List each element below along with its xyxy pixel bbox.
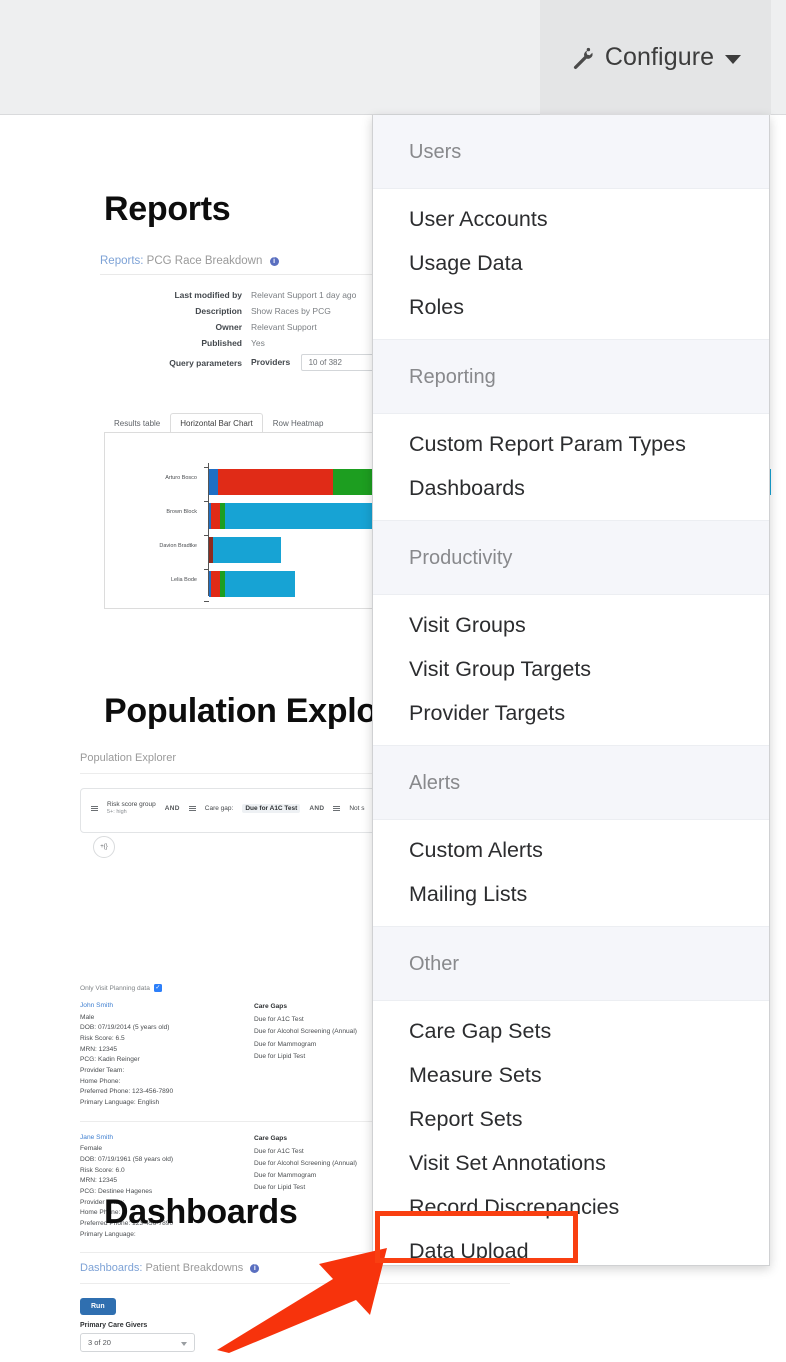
bar-segment <box>209 469 218 495</box>
menu-item-dashboards[interactable]: Dashboards <box>373 466 769 510</box>
query-param-name: Providers <box>251 357 290 367</box>
meta-key: Published <box>100 335 251 351</box>
breadcrumb-link[interactable]: Dashboards: <box>80 1262 142 1274</box>
table-row: Owner Relevant Support <box>100 319 410 335</box>
chevron-down-icon <box>181 1342 187 1346</box>
breadcrumb-title: PCG Race Breakdown <box>147 255 263 267</box>
bar-segment <box>225 503 390 529</box>
bar-track <box>209 503 390 529</box>
care-gap-item: Due for Mammogram <box>254 1170 357 1182</box>
filter-care-gap-value[interactable]: Due for A1C Test <box>242 804 300 813</box>
patient-detail: Female <box>80 1144 230 1155</box>
axis-tick <box>204 601 209 602</box>
only-visit-planning-toggle[interactable]: Only Visit Planning data ✓ <box>80 984 380 992</box>
patient-detail: Provider Team: <box>80 1066 230 1077</box>
table-row: Published Yes <box>100 335 410 351</box>
patient-detail: DOB: 07/19/1961 (58 years old) <box>80 1155 230 1166</box>
dashboards-card: Dashboards: Patient Breakdowns i Run Pri… <box>80 1262 510 1352</box>
filter-care-gap-label: Care gap: <box>205 805 234 812</box>
menu-section-header-users: Users <box>373 115 769 189</box>
patient-detail: Home Phone: <box>80 1077 230 1088</box>
top-bar: Configure <box>0 0 786 115</box>
patient-name[interactable]: Jane Smith <box>80 1133 230 1144</box>
meta-key: Owner <box>100 319 251 335</box>
care-gap-item: Due for Lipid Test <box>254 1051 357 1063</box>
primary-care-givers-select[interactable]: 3 of 20 <box>80 1333 195 1352</box>
menu-item-visit-groups[interactable]: Visit Groups <box>373 603 769 647</box>
menu-item-usage-data[interactable]: Usage Data <box>373 241 769 285</box>
care-gaps-title: Care Gaps <box>254 1001 357 1013</box>
list-item: John Smith Male DOB: 07/19/2014 (5 years… <box>80 1001 380 1122</box>
breadcrumb-title: Patient Breakdowns <box>145 1262 243 1274</box>
only-visit-planning-label: Only Visit Planning data <box>80 985 150 992</box>
care-gap-item: Due for A1C Test <box>254 1014 357 1026</box>
filter-sublabel: 5+: high <box>107 809 156 816</box>
menu-item-custom-report-param-types[interactable]: Custom Report Param Types <box>373 422 769 466</box>
bar-label: Lelia Bode <box>107 577 197 583</box>
reports-heading: Reports <box>104 190 230 229</box>
filter-risk-score-group[interactable]: Risk score group 5+: high <box>107 801 156 816</box>
meta-key: Last modified by <box>100 287 251 303</box>
primary-care-givers-value: 3 of 20 <box>88 1338 111 1347</box>
bar-label: Brown Block <box>107 509 197 515</box>
bar-label: Davion Bradtke <box>107 543 197 549</box>
menu-item-user-accounts[interactable]: User Accounts <box>373 197 769 241</box>
primary-care-givers-label: Primary Care Givers <box>80 1322 510 1329</box>
menu-item-measure-sets[interactable]: Measure Sets <box>373 1053 769 1097</box>
patient-detail: DOB: 07/19/2014 (5 years old) <box>80 1023 230 1034</box>
drag-handle-icon[interactable] <box>333 805 340 813</box>
care-gap-item: Due for Alcohol Screening (Annual) <box>254 1158 357 1170</box>
patient-detail: PCG: Kadin Reinger <box>80 1055 230 1066</box>
configure-dropdown-menu: Users User Accounts Usage Data Roles Rep… <box>372 115 770 1266</box>
add-filter-button[interactable]: +{} <box>93 836 115 858</box>
bar-label: Arturo Bosco <box>107 475 197 481</box>
menu-item-data-upload[interactable]: Data Upload <box>373 1229 769 1266</box>
info-icon[interactable]: i <box>270 257 279 266</box>
bar-segment <box>225 571 295 597</box>
tab-results-table[interactable]: Results table <box>104 413 170 433</box>
patient-name[interactable]: John Smith <box>80 1001 230 1012</box>
bar-segment <box>213 537 281 563</box>
breadcrumb-link[interactable]: Reports: <box>100 255 143 267</box>
filter-label: Risk score group <box>107 801 156 809</box>
table-row: Description Show Races by PCG <box>100 303 410 319</box>
care-gap-item: Due for A1C Test <box>254 1146 357 1158</box>
patient-detail: MRN: 12345 <box>80 1176 230 1187</box>
filter-operator: AND <box>165 805 180 812</box>
patient-detail: Risk Score: 6.0 <box>80 1166 230 1177</box>
menu-section-header-other: Other <box>373 926 769 1001</box>
checkbox-checked-icon[interactable]: ✓ <box>154 984 162 992</box>
drag-handle-icon[interactable] <box>189 805 196 813</box>
query-parameters-label: Query parameters <box>100 351 251 374</box>
bar-track <box>209 571 295 597</box>
chevron-down-icon <box>725 55 741 64</box>
wrench-icon <box>570 46 594 70</box>
run-button[interactable]: Run <box>80 1298 116 1315</box>
menu-item-visit-group-targets[interactable]: Visit Group Targets <box>373 647 769 691</box>
patient-detail: Primary Language: English <box>80 1098 230 1109</box>
table-row: Last modified by Relevant Support 1 day … <box>100 287 410 303</box>
care-gap-item: Due for Alcohol Screening (Annual) <box>254 1026 357 1038</box>
menu-item-mailing-lists[interactable]: Mailing Lists <box>373 872 769 916</box>
menu-item-roles[interactable]: Roles <box>373 285 769 329</box>
configure-label: Configure <box>605 43 714 72</box>
drag-handle-icon[interactable] <box>91 805 98 813</box>
menu-section-header-productivity: Productivity <box>373 520 769 595</box>
menu-item-provider-targets[interactable]: Provider Targets <box>373 691 769 735</box>
care-gap-item: Due for Mammogram <box>254 1039 357 1051</box>
configure-menu-button[interactable]: Configure <box>540 0 771 115</box>
bar-segment <box>218 469 333 495</box>
filter-third-label: Not s <box>349 805 364 812</box>
patient-detail: Risk Score: 6.5 <box>80 1034 230 1045</box>
providers-select-value: 10 of 382 <box>309 358 342 367</box>
report-metadata-table: Last modified by Relevant Support 1 day … <box>100 287 410 374</box>
menu-section-header-alerts: Alerts <box>373 745 769 820</box>
menu-item-visit-set-annotations[interactable]: Visit Set Annotations <box>373 1141 769 1185</box>
menu-item-care-gap-sets[interactable]: Care Gap Sets <box>373 1009 769 1053</box>
table-row: Query parameters Providers 10 of 382 <box>100 351 410 374</box>
bar-segment <box>211 503 220 529</box>
patient-detail: MRN: 12345 <box>80 1045 230 1056</box>
menu-item-custom-alerts[interactable]: Custom Alerts <box>373 828 769 872</box>
bar-track <box>209 537 281 563</box>
menu-section-header-reporting: Reporting <box>373 339 769 414</box>
info-icon[interactable]: i <box>250 1264 259 1273</box>
patient-detail: Male <box>80 1013 230 1024</box>
meta-key: Description <box>100 303 251 319</box>
filter-operator: AND <box>309 805 324 812</box>
menu-item-record-discrepancies[interactable]: Record Discrepancies <box>373 1185 769 1229</box>
tab-row-heatmap[interactable]: Row Heatmap <box>263 413 334 433</box>
menu-item-report-sets[interactable]: Report Sets <box>373 1097 769 1141</box>
care-gaps-title: Care Gaps <box>254 1133 357 1145</box>
bar-segment <box>211 571 220 597</box>
dashboards-heading: Dashboards <box>104 1193 298 1232</box>
patient-detail: Preferred Phone: 123-456-7890 <box>80 1087 230 1098</box>
tab-horizontal-bar-chart[interactable]: Horizontal Bar Chart <box>170 413 262 433</box>
